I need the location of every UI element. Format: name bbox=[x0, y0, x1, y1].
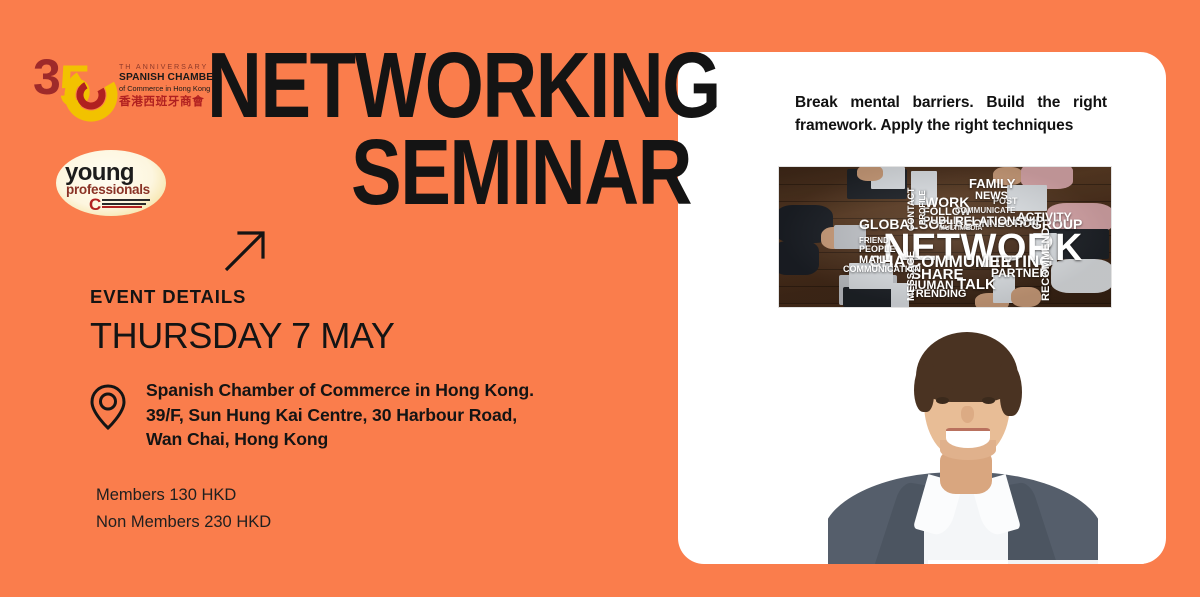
location-pin-icon bbox=[88, 382, 128, 432]
yp-c-icon: C bbox=[89, 197, 101, 213]
card-tagline: Break mental barriers. Build the right f… bbox=[795, 92, 1107, 137]
event-poster: Break mental barriers. Build the right f… bbox=[0, 0, 1200, 597]
arrow-up-right-icon bbox=[222, 228, 268, 274]
price-non-members: Non Members 230 HKD bbox=[96, 509, 271, 536]
price-members: Members 130 HKD bbox=[96, 482, 271, 509]
anniversary-35c-mark: 3 5 bbox=[33, 48, 119, 124]
venue-line-3: Wan Chai, Hong Kong bbox=[146, 427, 534, 452]
chamber-subtitle: of Commerce in Hong Kong bbox=[119, 84, 215, 94]
young-professionals-logo: young professionals C bbox=[56, 150, 166, 216]
event-date: THURSDAY 7 MAY bbox=[90, 315, 394, 357]
venue-line-1: Spanish Chamber of Commerce in Hong Kong… bbox=[146, 378, 534, 403]
venue-line-2: 39/F, Sun Hung Kai Centre, 30 Harbour Ro… bbox=[146, 403, 534, 428]
pricing-block: Members 130 HKD Non Members 230 HKD bbox=[96, 482, 271, 536]
chamber-name-chinese: 香港西班牙商會 bbox=[119, 95, 215, 109]
speaker-card: Break mental barriers. Build the right f… bbox=[678, 52, 1166, 564]
yp-professionals-text: professionals bbox=[66, 183, 150, 197]
chamber-name: SPANISH CHAMBER bbox=[119, 72, 215, 84]
yp-bars-icon bbox=[102, 199, 150, 210]
speaker-photo bbox=[828, 308, 1098, 564]
spanish-chamber-anniversary-logo: 3 5 TH ANNIVERSARY SPANISH CHAMBER of Co… bbox=[33, 48, 213, 126]
network-wordcloud-image: NETWORK GLOBAL SOCIAL CONNECTION GROUP W… bbox=[778, 166, 1112, 308]
venue-address: Spanish Chamber of Commerce in Hong Kong… bbox=[146, 378, 534, 452]
svg-text:3: 3 bbox=[33, 49, 61, 105]
anniversary-tagline: TH ANNIVERSARY bbox=[119, 62, 215, 72]
speaker-name: ALFONSO BALLESTEROS bbox=[928, 560, 1166, 564]
yp-chamber-mark: C bbox=[89, 197, 155, 213]
event-details-label: EVENT DETAILS bbox=[90, 286, 246, 308]
